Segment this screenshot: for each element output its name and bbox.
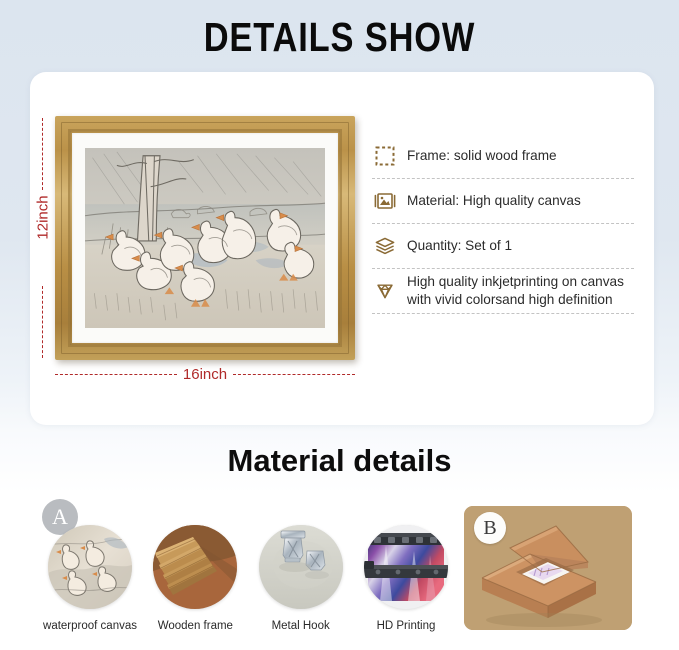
- thumbnail-caption-waterproof-canvas: waterproof canvas: [42, 620, 138, 632]
- picture-icon: [372, 188, 398, 214]
- canvas-swatch-thumb: [48, 525, 132, 609]
- badge-b: B: [474, 512, 506, 544]
- thumbnail-caption-wooden-frame: Wooden frame: [147, 620, 243, 632]
- thumbnail-caption-hd-printing: HD Printing: [358, 620, 454, 632]
- dashed-frame-icon: [372, 143, 398, 169]
- width-guide-line-left: [55, 374, 177, 375]
- width-dimension-label: 16inch: [177, 366, 233, 383]
- diamond-icon: [372, 278, 398, 304]
- height-guide-line-top: [42, 118, 43, 190]
- page-title: DETAILS SHOW: [54, 14, 624, 61]
- spec-text-printing-line2: with vivid colorsand high definition: [407, 292, 613, 307]
- width-guide-line-right: [233, 374, 355, 375]
- thumbnail-caption-metal-hook: Metal Hook: [253, 620, 349, 632]
- spec-row-frame: Frame: solid wood frame: [372, 134, 634, 178]
- height-dimension-guide: 12inch: [30, 116, 56, 360]
- material-details-title: Material details: [0, 443, 679, 479]
- framed-artwork: [55, 116, 355, 360]
- thumbnail-waterproof-canvas: waterproof canvas: [42, 525, 138, 632]
- spec-text-frame: Frame: solid wood frame: [407, 147, 557, 165]
- metal-hook-thumb: [259, 525, 343, 609]
- artwork-canvas: [85, 148, 325, 328]
- spec-row-material: Material: High quality canvas: [372, 179, 634, 223]
- spec-text-printing-line1: High quality inkjetprinting on canvas: [407, 274, 624, 289]
- thumbnail-hd-printing: HD Printing: [358, 525, 454, 632]
- spec-text-quantity: Quantity: Set of 1: [407, 237, 512, 255]
- spec-row-printing: High quality inkjetprinting on canvas wi…: [372, 269, 634, 313]
- height-guide-line-bottom: [42, 286, 43, 358]
- hd-printing-thumb: [364, 525, 448, 609]
- layers-icon: [372, 233, 398, 259]
- material-thumbnail-row: waterproof canvas: [42, 525, 454, 632]
- width-dimension-guide: 16inch: [55, 362, 355, 386]
- specification-list: Frame: solid wood frame Material: High q…: [372, 134, 634, 314]
- spec-separator-4: [372, 313, 634, 314]
- thumbnail-metal-hook: Metal Hook: [253, 525, 349, 632]
- spec-text-material: Material: High quality canvas: [407, 192, 581, 210]
- spec-row-quantity: Quantity: Set of 1: [372, 224, 634, 268]
- thumbnail-wooden-frame: Wooden frame: [147, 525, 243, 632]
- height-dimension-label: 12inch: [35, 182, 52, 254]
- spec-text-printing: High quality inkjetprinting on canvas wi…: [407, 273, 624, 309]
- frame-mat: [72, 133, 338, 343]
- wooden-frame-thumb: [153, 525, 237, 609]
